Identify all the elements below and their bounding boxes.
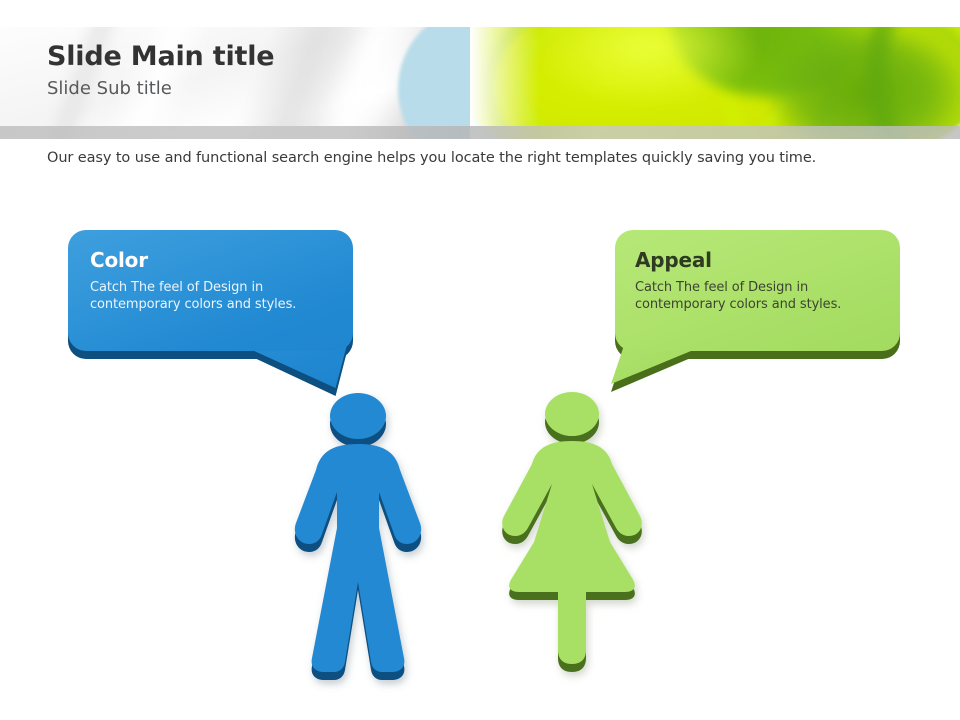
header-bottom-gray-bar <box>0 126 960 139</box>
bubble-description: Catch The feel of Design in contemporary… <box>90 279 340 313</box>
male-figure-top <box>295 393 421 672</box>
page-title: Slide Main title <box>47 40 274 74</box>
swirl-dark-arc <box>865 27 960 139</box>
bubble-description: Catch The feel of Design in contemporary… <box>635 279 885 313</box>
slide-canvas: Slide Main title Slide Sub title Our eas… <box>0 0 960 720</box>
female-person-icon[interactable] <box>492 392 667 672</box>
header-text-block: Slide Main title Slide Sub title <box>47 40 274 101</box>
male-figure-shadow-group <box>295 393 421 680</box>
page-subtitle: Slide Sub title <box>47 77 274 101</box>
bubble-title: Color <box>90 248 340 272</box>
speech-bubble-appeal[interactable]: Appeal Catch The feel of Design in conte… <box>613 230 913 390</box>
male-person-icon[interactable] <box>282 392 472 674</box>
bubble-text-block: Color Catch The feel of Design in contem… <box>90 248 340 313</box>
bubble-text-block: Appeal Catch The feel of Design in conte… <box>635 248 885 313</box>
intro-paragraph: Our easy to use and functional search en… <box>47 150 816 166</box>
swirl-left-fade <box>470 27 540 139</box>
speech-bubble-color[interactable]: Color Catch The feel of Design in contem… <box>68 230 368 390</box>
female-figure-top <box>502 392 642 664</box>
female-figure-shadow-group <box>502 392 642 672</box>
bubble-title: Appeal <box>635 248 885 272</box>
header-green-swirl-graphic <box>470 27 960 139</box>
